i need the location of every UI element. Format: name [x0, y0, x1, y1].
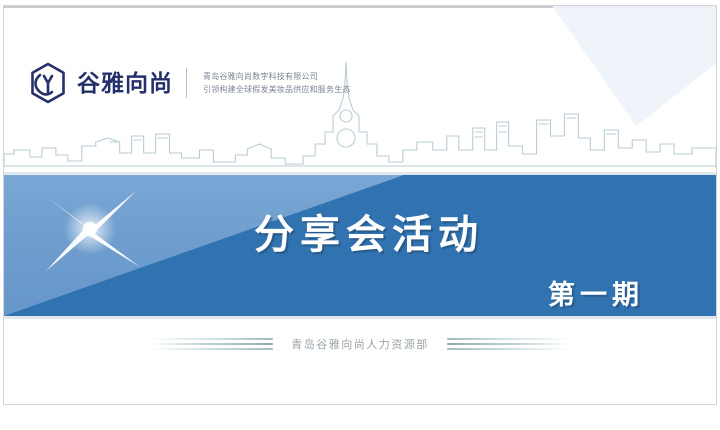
tagline-line-1: 青岛谷雅向尚数字科技有限公司 — [203, 72, 351, 81]
banner-top-rule — [4, 172, 716, 175]
slide-title: 分享会活动 — [4, 202, 716, 260]
presentation-slide: 谷雅向尚 青岛谷雅向尚数字科技有限公司 引领构建全球假发美妆品供应和服务生态 — [3, 5, 717, 405]
hexagon-y-logo-icon — [28, 62, 68, 104]
triple-line-decor-icon-left — [148, 338, 273, 350]
triple-line-decor-icon-right — [447, 338, 572, 350]
slide-footer: 青岛谷雅向尚人力资源部 — [4, 336, 716, 352]
brand-logo: 谷雅向尚 青岛谷雅向尚数字科技有限公司 引领构建全球假发美妆品供应和服务生态 — [28, 62, 351, 104]
slide-subtitle: 第一期 — [548, 273, 644, 312]
footer-text: 青岛谷雅向尚人力资源部 — [291, 336, 429, 352]
screenshot-root: 谷雅向尚 青岛谷雅向尚数字科技有限公司 引领构建全球假发美妆品供应和服务生态 — [0, 0, 720, 430]
logo-divider — [186, 68, 187, 98]
brand-name: 谷雅向尚 — [77, 72, 173, 95]
tagline-line-2: 引领构建全球假发美妆品供应和服务生态 — [203, 85, 351, 94]
banner-bottom-rule — [4, 316, 716, 319]
brand-tagline: 青岛谷雅向尚数字科技有限公司 引领构建全球假发美妆品供应和服务生态 — [203, 72, 351, 93]
